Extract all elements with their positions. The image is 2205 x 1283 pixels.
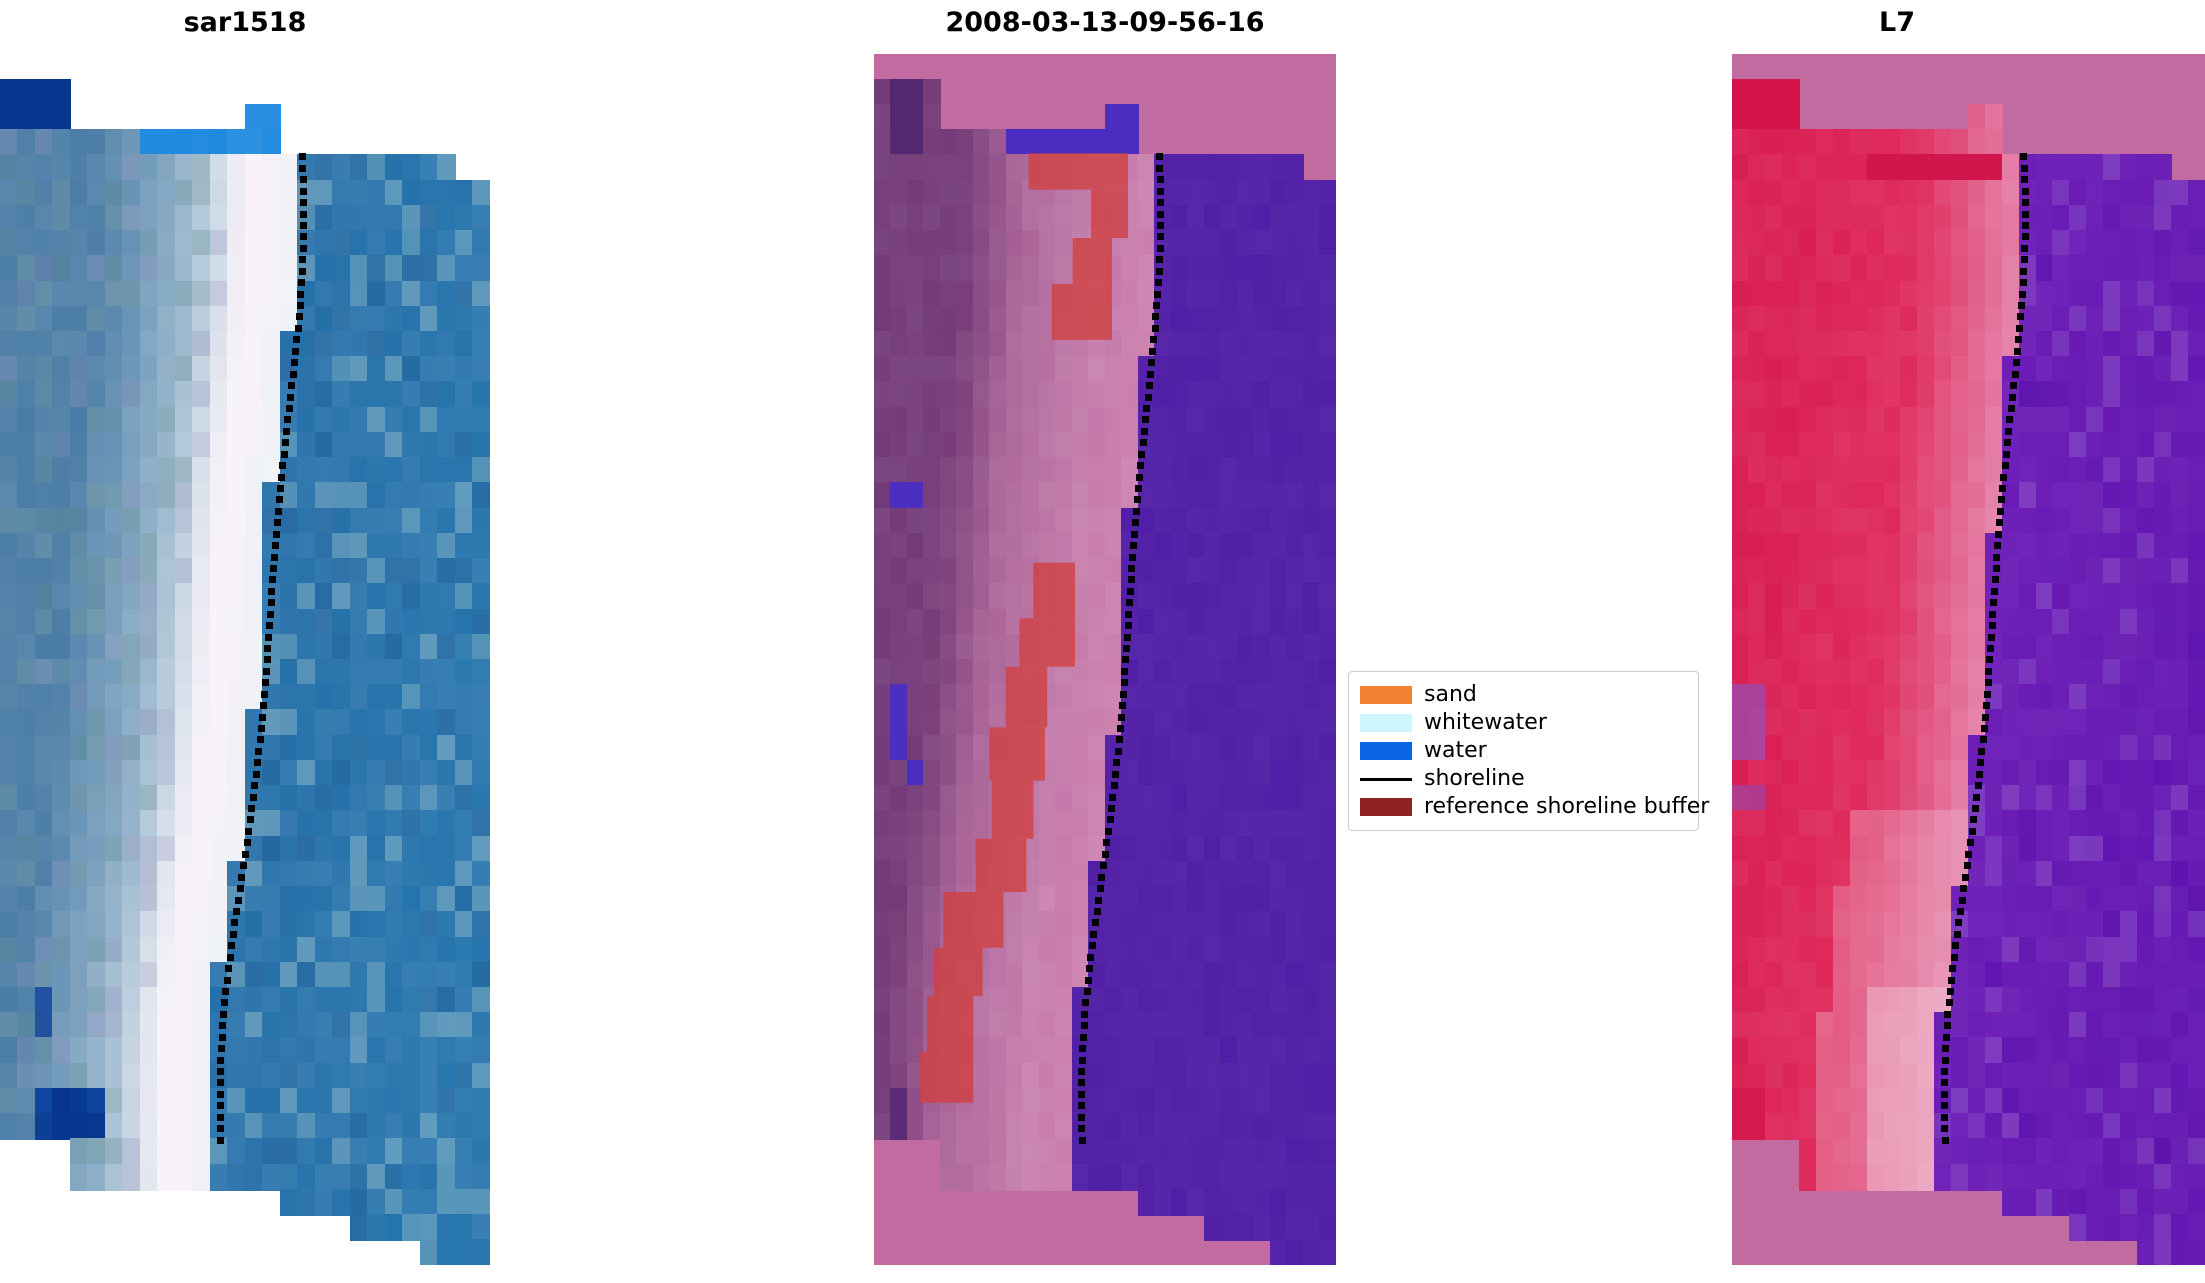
sar-image-canvas	[0, 54, 490, 1265]
legend-label-sand: sand	[1424, 681, 1477, 709]
legend-item-reference-buffer: reference shoreline buffer	[1360, 793, 1687, 821]
shoreline-line-icon	[1360, 770, 1412, 788]
legend-item-shoreline: shoreline	[1360, 765, 1687, 793]
panel-sar	[0, 54, 490, 1265]
classified-image-canvas	[874, 54, 1336, 1265]
figure-root: sar1518 2008-03-13-09-56-16 L7 sand whit…	[0, 0, 2205, 1283]
legend-box: sand whitewater water shoreline referenc…	[1348, 671, 1699, 831]
panel-classified	[874, 54, 1336, 1265]
panel-title-l7: L7	[1732, 8, 2062, 38]
l7-image-canvas	[1732, 54, 2205, 1265]
legend-label-water: water	[1424, 737, 1487, 765]
legend-label-reference-buffer: reference shoreline buffer	[1424, 793, 1709, 821]
sand-swatch-icon	[1360, 686, 1412, 704]
panel-title-classified: 2008-03-13-09-56-16	[874, 8, 1336, 38]
legend-item-whitewater: whitewater	[1360, 709, 1687, 737]
whitewater-swatch-icon	[1360, 714, 1412, 732]
legend-label-shoreline: shoreline	[1424, 765, 1525, 793]
water-swatch-icon	[1360, 742, 1412, 760]
panel-l7	[1732, 54, 2205, 1265]
panel-title-sar: sar1518	[0, 8, 490, 38]
legend-item-water: water	[1360, 737, 1687, 765]
legend-label-whitewater: whitewater	[1424, 709, 1547, 737]
legend-item-sand: sand	[1360, 681, 1687, 709]
reference-buffer-swatch-icon	[1360, 798, 1412, 816]
